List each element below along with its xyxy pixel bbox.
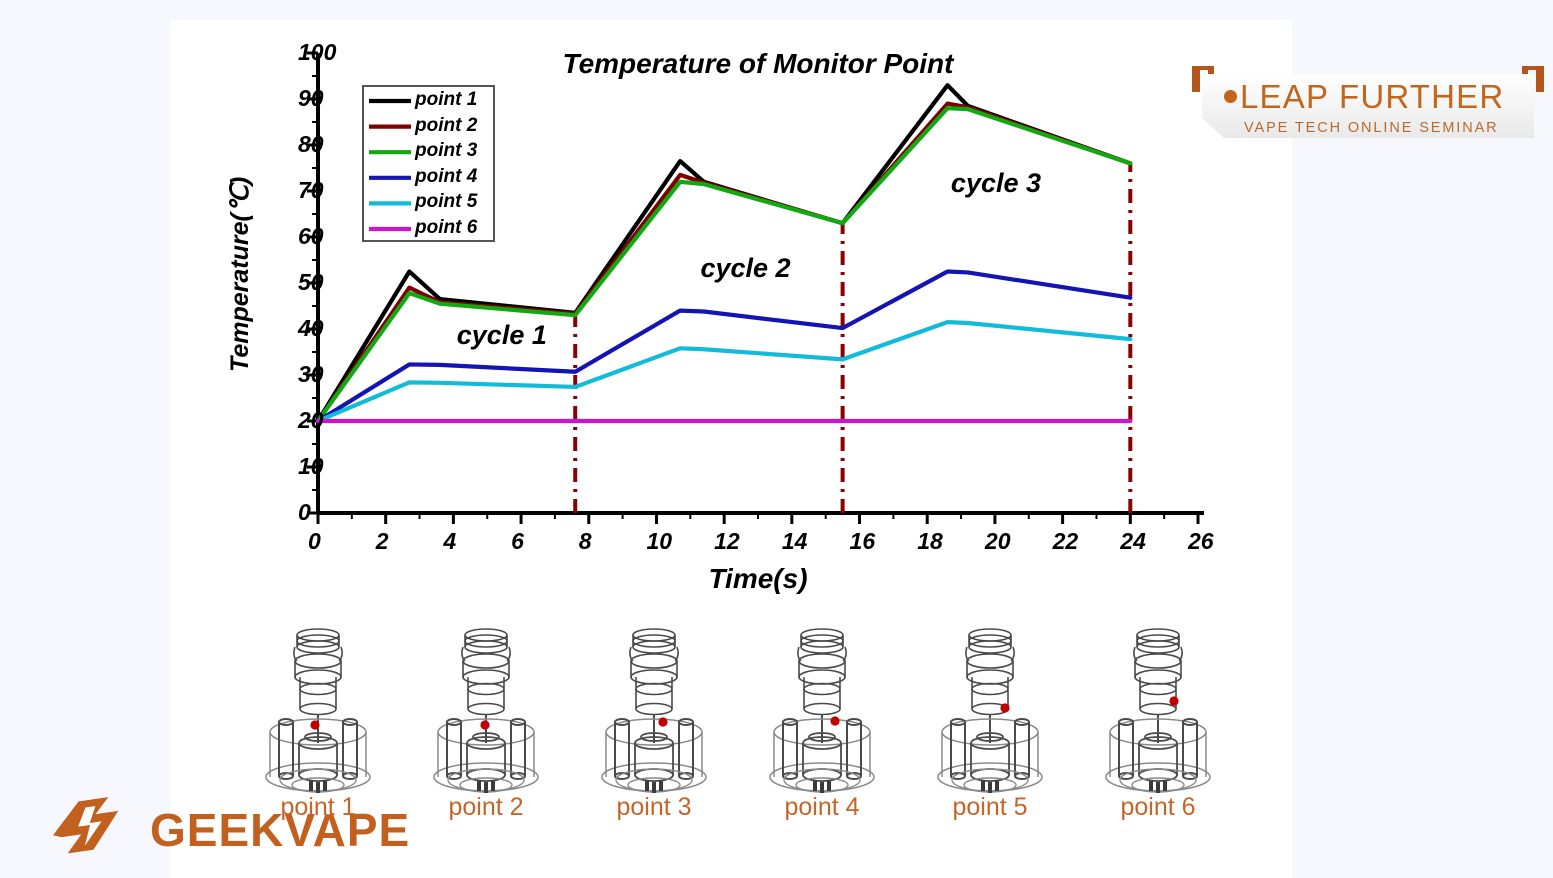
slide-root: 0246810121416182022242601020304050607080…	[0, 0, 1553, 878]
x-tick-label: 2	[376, 528, 389, 555]
legend-label-6: point 6	[415, 217, 477, 239]
atomizer-icon	[579, 625, 729, 795]
atomizer-icon	[747, 625, 897, 795]
x-tick-label: 18	[917, 528, 943, 555]
x-tick-label: 14	[782, 528, 808, 555]
x-tick-label: 6	[511, 528, 524, 555]
x-tick-label: 8	[579, 528, 592, 555]
cycle-annotation: cycle 3	[951, 168, 1041, 199]
badge-title: LEAP FURTHER	[1240, 78, 1504, 116]
x-tick-label: 20	[985, 528, 1011, 555]
legend-label-4: point 4	[415, 166, 477, 188]
x-tick-label: 4	[443, 528, 456, 555]
chart-title: Temperature of Monitor Point	[563, 48, 954, 80]
atomizer-icon	[1083, 625, 1233, 795]
cycle-annotation: cycle 2	[700, 253, 790, 284]
atomizer-icon	[915, 625, 1065, 795]
device-label-6: point 6	[1083, 793, 1233, 822]
x-tick-label: 0	[308, 528, 321, 555]
device-label-4: point 4	[747, 793, 897, 822]
legend-label-1: point 1	[415, 89, 477, 111]
atomizer-icon	[411, 625, 561, 795]
atomizer-icon	[243, 625, 393, 795]
cycle-annotation: cycle 1	[457, 320, 547, 351]
monitor-point-marker	[830, 716, 839, 725]
badge-bullet-icon	[1224, 90, 1237, 103]
legend-label-3: point 3	[415, 140, 477, 162]
monitor-point-marker	[658, 717, 667, 726]
badge-subtitle: VAPE TECH ONLINE SEMINAR	[1244, 120, 1499, 136]
series-line-point-5	[318, 322, 1130, 421]
x-tick-label: 26	[1188, 528, 1214, 555]
x-tick-label: 12	[714, 528, 740, 555]
x-tick-label: 10	[646, 528, 672, 555]
x-tick-label: 16	[850, 528, 876, 555]
device-diagram-6: point 6	[1083, 625, 1233, 825]
device-diagram-5: point 5	[915, 625, 1065, 825]
seminar-badge: LEAP FURTHER VAPE TECH ONLINE SEMINAR	[1188, 62, 1548, 154]
device-diagram-3: point 3	[579, 625, 729, 825]
device-label-5: point 5	[915, 793, 1065, 822]
legend-label-5: point 5	[415, 191, 477, 213]
monitor-point-marker	[310, 720, 319, 729]
brand-name: GEEKVAPE	[150, 803, 410, 857]
geekvape-logo: GEEKVAPE	[42, 795, 412, 865]
series-line-point-4	[318, 272, 1130, 422]
device-diagram-4: point 4	[747, 625, 897, 825]
monitor-point-marker	[1169, 696, 1178, 705]
x-tick-label: 24	[1120, 528, 1146, 555]
monitor-point-marker	[480, 720, 489, 729]
x-tick-label: 22	[1053, 528, 1079, 555]
device-label-3: point 3	[579, 793, 729, 822]
monitor-point-marker	[1000, 703, 1009, 712]
geekvape-bolt-icon	[42, 795, 138, 865]
device-label-2: point 2	[411, 793, 561, 822]
x-axis-label: Time(s)	[708, 563, 807, 595]
legend-label-2: point 2	[415, 115, 477, 137]
y-axis-label: Temperature(℃)	[225, 192, 255, 372]
device-diagram-2: point 2	[411, 625, 561, 825]
